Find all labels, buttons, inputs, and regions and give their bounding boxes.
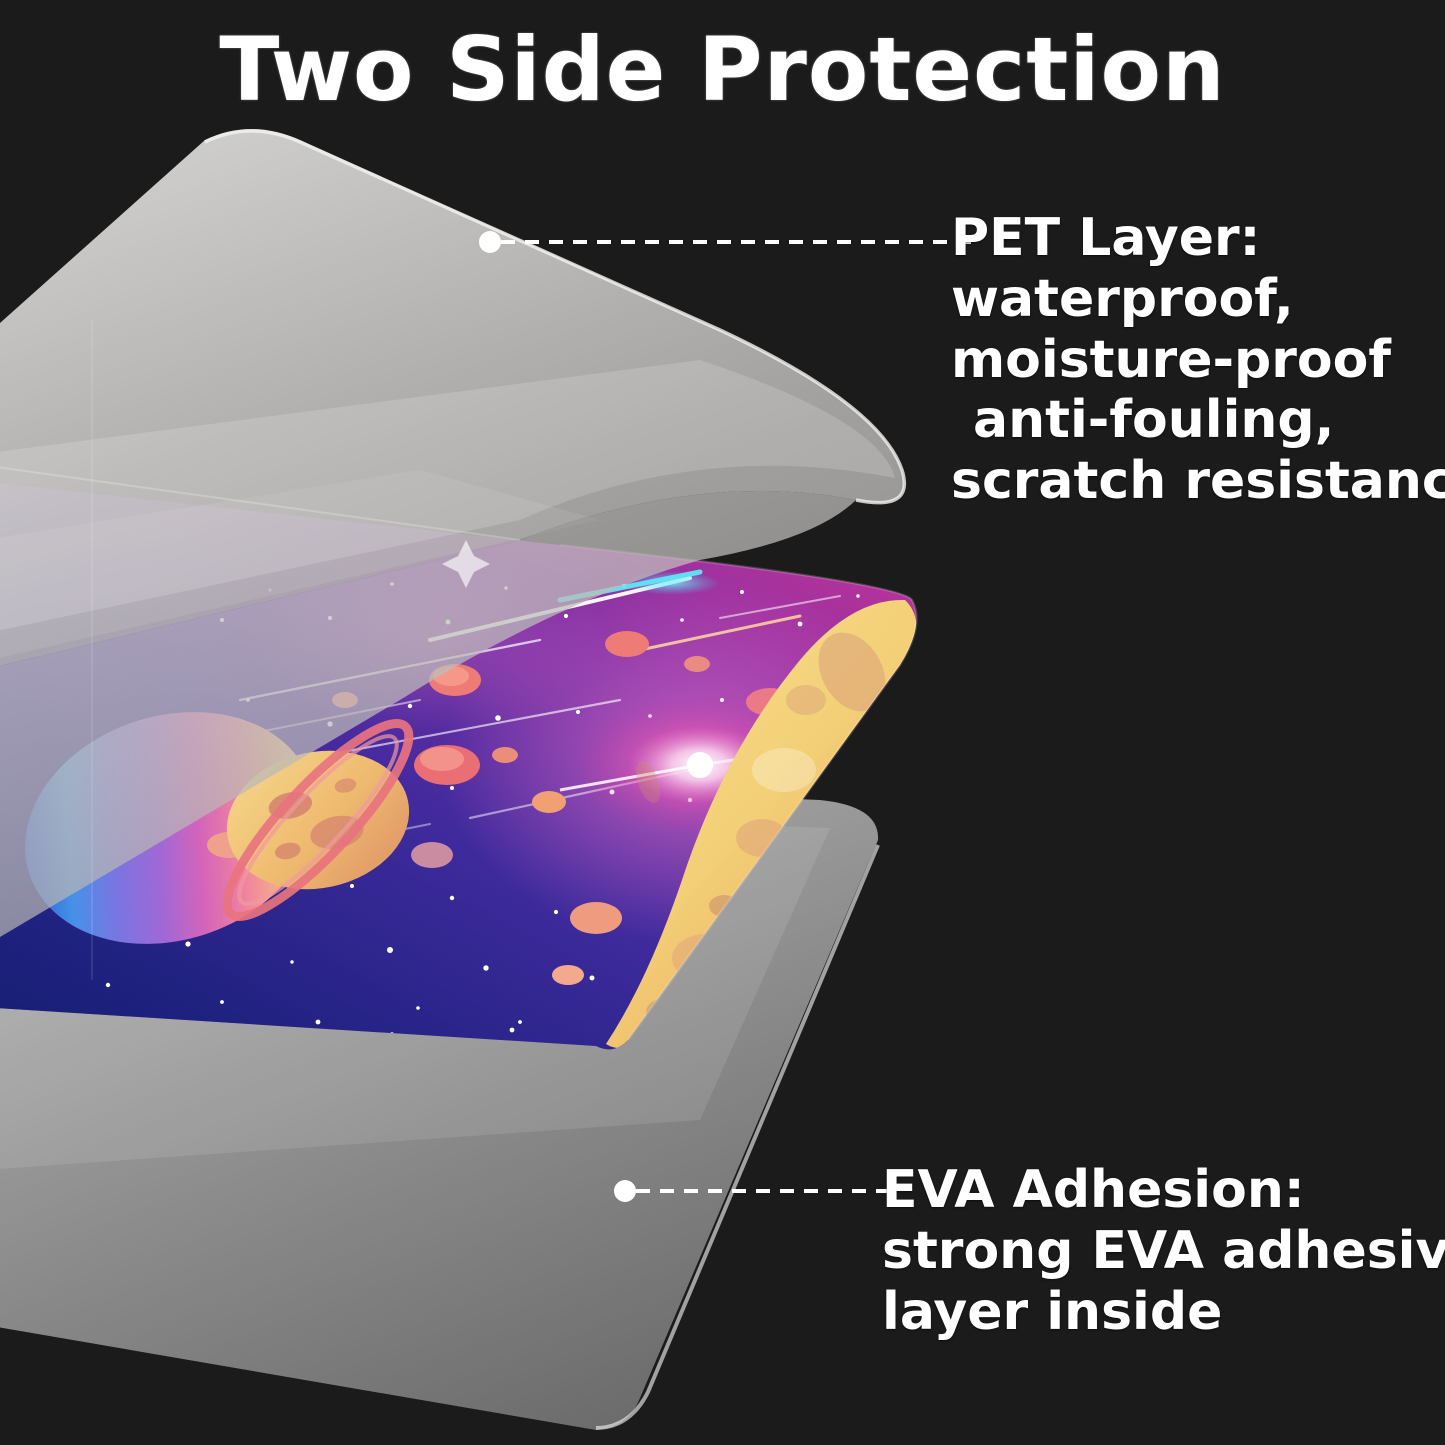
eva-callout-line-2: strong EVA adhesive bbox=[882, 1221, 1445, 1282]
pet-callout-line-3: moisture-proof bbox=[951, 330, 1445, 391]
pet-layer-callout: PET Layer: waterproof, moisture-proof an… bbox=[951, 208, 1445, 512]
pet-callout-line-1: PET Layer: bbox=[951, 208, 1445, 269]
pet-callout-line-2: waterproof, bbox=[951, 269, 1445, 330]
pet-dashed-line bbox=[501, 240, 971, 244]
eva-dashed-line bbox=[636, 1189, 892, 1193]
pet-callout-line-4: anti-fouling, bbox=[951, 390, 1445, 451]
pet-marker-dot bbox=[479, 231, 501, 253]
infographic-canvas: Two Side Protection PET Layer: waterproo… bbox=[0, 0, 1445, 1445]
eva-marker-dot bbox=[614, 1180, 636, 1202]
pet-callout-line-5: scratch resistance bbox=[951, 451, 1445, 512]
eva-callout-line-3: layer inside bbox=[882, 1282, 1445, 1343]
page-title: Two Side Protection bbox=[0, 24, 1445, 116]
eva-adhesion-callout: EVA Adhesion: strong EVA adhesive layer … bbox=[882, 1160, 1445, 1342]
eva-callout-line-1: EVA Adhesion: bbox=[882, 1160, 1445, 1221]
